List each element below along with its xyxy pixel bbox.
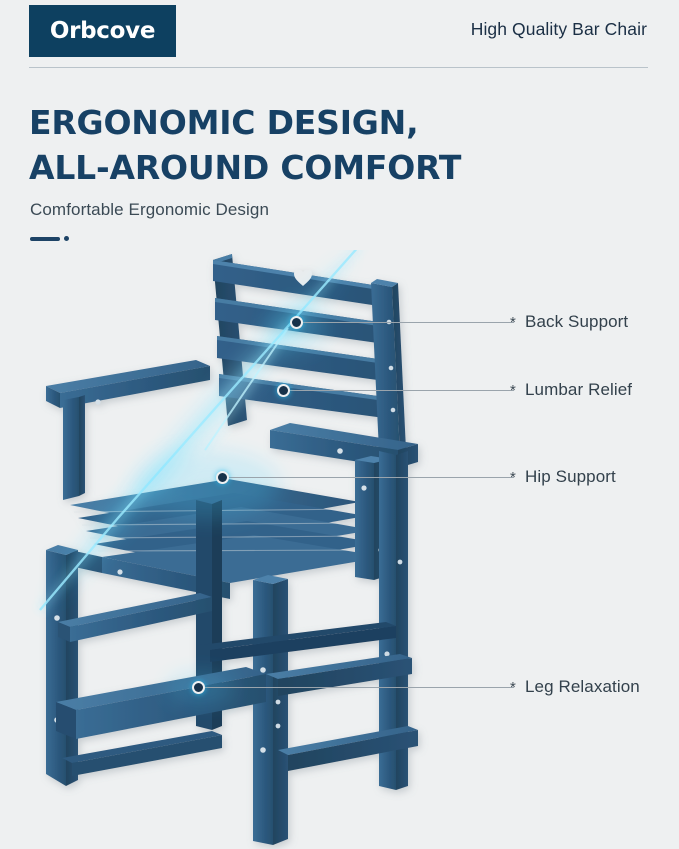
callout-marker-icon: * (510, 382, 516, 400)
chair-body (46, 254, 418, 845)
header-divider (29, 67, 648, 68)
callout-lumbar-relief[interactable]: * Lumbar Relief (283, 381, 663, 401)
callout-marker-icon: * (510, 469, 516, 487)
headline-line-2: ALL-AROUND COMFORT (29, 145, 589, 190)
accent-dot (64, 236, 69, 241)
product-title: High Quality Bar Chair (471, 19, 647, 40)
callout-dot[interactable] (277, 384, 290, 397)
callout-label: Hip Support (525, 467, 616, 487)
accent-bar (30, 237, 60, 241)
callout-leg-relaxation[interactable]: * Leg Relaxation (198, 678, 668, 698)
callout-dot[interactable] (290, 316, 303, 329)
callout-dot[interactable] (192, 681, 205, 694)
product-illustration: * Back Support * Lumbar Relief * Hip Sup… (0, 250, 679, 849)
callout-label: Back Support (525, 312, 628, 332)
page-header: Orbcove High Quality Bar Chair (0, 0, 679, 72)
callout-line (198, 687, 514, 688)
callout-marker-icon: * (510, 314, 516, 332)
callout-line (222, 477, 514, 478)
callout-line (283, 390, 514, 391)
page-headline: ERGONOMIC DESIGN, ALL-AROUND COMFORT (29, 100, 589, 190)
callout-line (296, 322, 514, 323)
callout-hip-support[interactable]: * Hip Support (222, 468, 662, 488)
bar-chair-graphic (0, 250, 679, 849)
accent-marker (30, 236, 76, 242)
page-subtitle: Comfortable Ergonomic Design (30, 200, 269, 220)
callout-label: Leg Relaxation (525, 677, 640, 697)
callout-dot[interactable] (216, 471, 229, 484)
headline-line-1: ERGONOMIC DESIGN, (29, 103, 418, 142)
callout-marker-icon: * (510, 679, 516, 697)
brand-logo: Orbcove (29, 5, 176, 57)
callout-label: Lumbar Relief (525, 380, 632, 400)
brand-logo-text: Orbcove (50, 18, 155, 44)
callout-back-support[interactable]: * Back Support (296, 313, 666, 333)
